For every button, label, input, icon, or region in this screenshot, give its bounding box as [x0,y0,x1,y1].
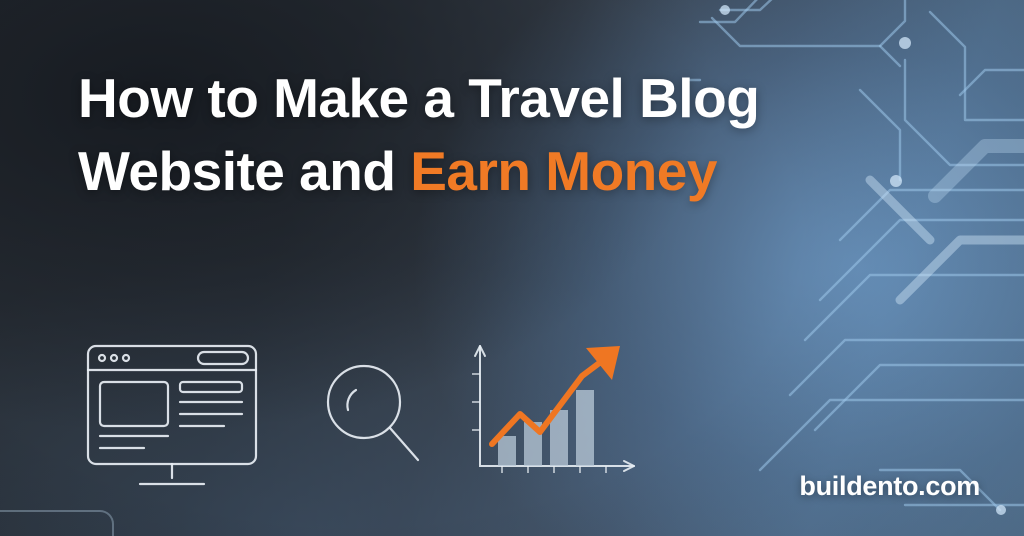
headline-line-2-plain: Website and [78,140,410,202]
magnifier-icon [312,352,432,482]
icon-row [72,340,652,500]
promo-banner: How to Make a Travel Blog Website and Ea… [0,0,1024,536]
brand-domain-label: buildento.com [799,471,980,502]
banner-content: How to Make a Travel Blog Website and Ea… [0,0,1024,536]
browser-window-icon [82,340,262,495]
growth-chart-icon [462,340,642,490]
headline-line-1: How to Make a Travel Blog [78,62,878,135]
headline-line-2: Website and Earn Money [78,135,878,208]
corner-accent-decoration [0,510,114,536]
headline-accent-text: Earn Money [410,140,717,202]
page-title: How to Make a Travel Blog Website and Ea… [78,62,878,207]
